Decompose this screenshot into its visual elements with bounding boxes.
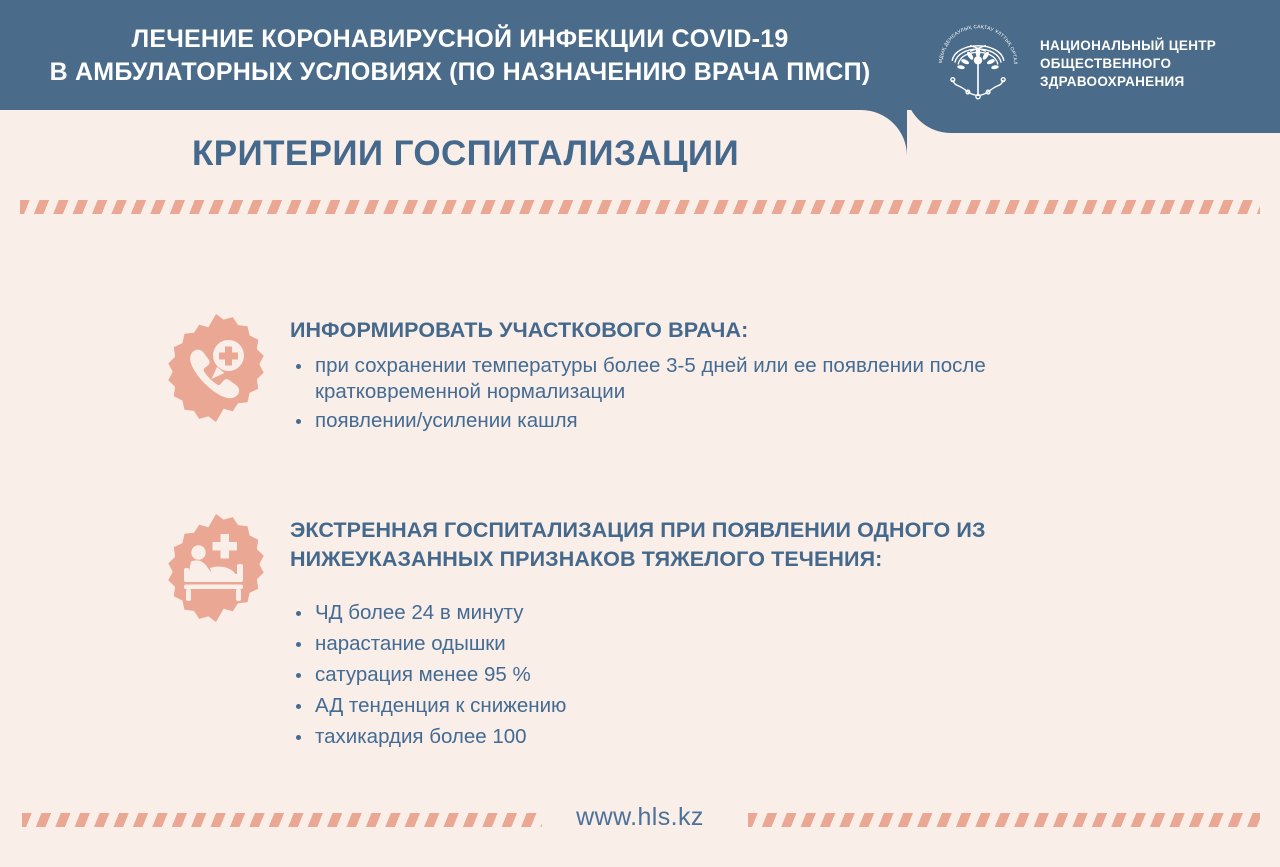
header-title: ЛЕЧЕНИЕ КОРОНАВИРУСНОЙ ИНФЕКЦИИ COVID-19… bbox=[0, 23, 920, 89]
section-heading-line: ЭКСТРЕННАЯ ГОСПИТАЛИЗАЦИЯ ПРИ ПОЯВЛЕНИИ … bbox=[290, 516, 986, 545]
org-name-line-2: ОБЩЕСТВЕННОГО bbox=[1040, 55, 1216, 73]
list-item: сатурация менее 95 % bbox=[290, 662, 986, 688]
infographic-page: ЛЕЧЕНИЕ КОРОНАВИРУСНОЙ ИНФЕКЦИИ COVID-19… bbox=[0, 0, 1280, 867]
hospital-bed-patient-icon bbox=[160, 512, 272, 624]
organization-name: НАЦИОНАЛЬНЫЙ ЦЕНТР ОБЩЕСТВЕННОГО ЗДРАВОО… bbox=[1040, 37, 1216, 91]
list-item: тахикардия более 100 bbox=[290, 724, 986, 750]
stripe-divider-top bbox=[20, 200, 1260, 214]
header-title-line-2: В АМБУЛАТОРНЫХ УСЛОВИЯХ (ПО НАЗНАЧЕНИЮ В… bbox=[0, 56, 920, 89]
bullet-list: при сохранении температуры более 3-5 дне… bbox=[290, 353, 1150, 433]
bullet-list: ЧД более 24 в минуту нарастание одышки с… bbox=[290, 600, 986, 749]
organization-logo: ҚОҒАМДЫҚ ДЕНСАУЛЫҚ САҚТАУ ҰЛТТЫҚ ОРТАЛЫҒ… bbox=[932, 18, 1216, 110]
list-item: при сохранении температуры более 3-5 дне… bbox=[290, 353, 1150, 405]
org-name-line-3: ЗДРАВООХРАНЕНИЯ bbox=[1040, 73, 1216, 91]
list-item: АД тенденция к снижению bbox=[290, 693, 986, 719]
page-title: КРИТЕРИИ ГОСПИТАЛИЗАЦИИ bbox=[192, 134, 739, 174]
section-heading-line: НИЖЕУКАЗАННЫХ ПРИЗНАКОВ ТЯЖЕЛОГО ТЕЧЕНИЯ… bbox=[290, 545, 986, 574]
list-item: нарастание одышки bbox=[290, 631, 986, 657]
header-fillet-decoration bbox=[861, 110, 907, 156]
section-body: ЭКСТРЕННАЯ ГОСПИТАЛИЗАЦИЯ ПРИ ПОЯВЛЕНИИ … bbox=[290, 512, 986, 755]
section-heading: ИНФОРМИРОВАТЬ УЧАСТКОВОГО ВРАЧА: bbox=[290, 316, 1150, 345]
header-title-line-1: ЛЕЧЕНИЕ КОРОНАВИРУСНОЙ ИНФЕКЦИИ COVID-19 bbox=[0, 23, 920, 56]
list-item: появлении/усилении кашля bbox=[290, 408, 1150, 434]
section-emergency-hospitalization: ЭКСТРЕННАЯ ГОСПИТАЛИЗАЦИЯ ПРИ ПОЯВЛЕНИИ … bbox=[160, 512, 986, 755]
national-center-public-health-emblem-icon: ҚОҒАМДЫҚ ДЕНСАУЛЫҚ САҚТАУ ҰЛТТЫҚ ОРТАЛЫҒ… bbox=[932, 18, 1024, 110]
section-heading-line: ИНФОРМИРОВАТЬ УЧАСТКОВОГО ВРАЧА: bbox=[290, 316, 1150, 345]
list-item: ЧД более 24 в минуту bbox=[290, 600, 986, 626]
section-inform-doctor: ИНФОРМИРОВАТЬ УЧАСТКОВОГО ВРАЧА: при сох… bbox=[160, 312, 1150, 436]
phone-medical-call-icon bbox=[160, 312, 272, 424]
footer-website-url[interactable]: www.hls.kz bbox=[0, 803, 1280, 832]
section-heading: ЭКСТРЕННАЯ ГОСПИТАЛИЗАЦИЯ ПРИ ПОЯВЛЕНИИ … bbox=[290, 516, 986, 574]
section-body: ИНФОРМИРОВАТЬ УЧАСТКОВОГО ВРАЧА: при сох… bbox=[290, 312, 1150, 436]
org-name-line-1: НАЦИОНАЛЬНЫЙ ЦЕНТР bbox=[1040, 37, 1216, 55]
